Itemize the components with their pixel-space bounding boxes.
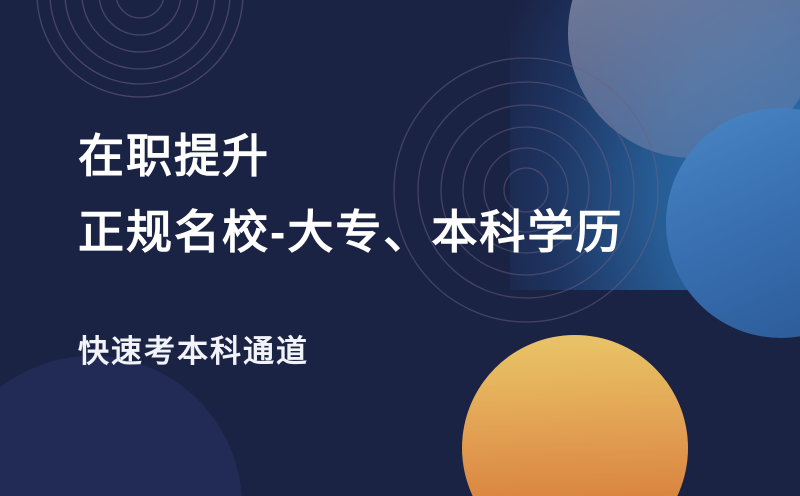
headline-line-2: 正规名校-大专、本科学历 <box>78 194 738 270</box>
ring <box>65 0 215 69</box>
ring <box>99 0 181 35</box>
navy-circle-decoration <box>0 356 242 496</box>
promo-banner: 在职提升 正规名校-大专、本科学历 快速考本科通道 <box>0 0 800 496</box>
ring <box>50 0 230 84</box>
sub-headline: 快速考本科通道 <box>78 270 738 371</box>
ring <box>82 0 198 52</box>
ring <box>37 0 243 97</box>
headline-block: 在职提升 正规名校-大专、本科学历 快速考本科通道 <box>78 118 738 371</box>
headline-line-1: 在职提升 <box>78 118 738 194</box>
ring <box>116 0 164 18</box>
